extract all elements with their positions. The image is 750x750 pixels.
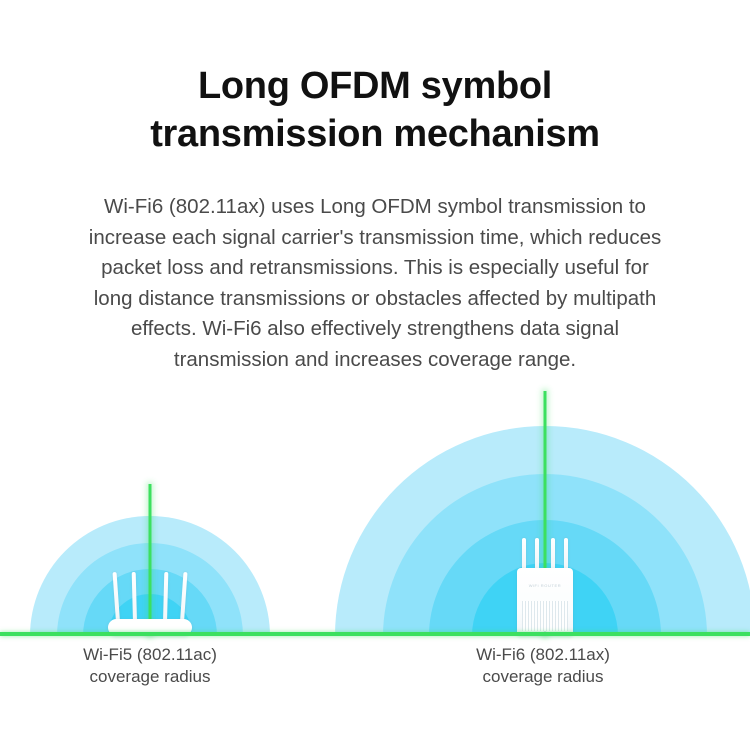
body-line-6: transmission and increases coverage rang… — [28, 345, 722, 376]
router-vent-grille — [522, 601, 568, 631]
body-line-5: effects. Wi-Fi6 also effectively strengt… — [28, 314, 722, 345]
wifi5-router-device — [102, 570, 198, 636]
body-line-1: Wi-Fi6 (802.11ax) uses Long OFDM symbol … — [28, 192, 722, 223]
body-paragraph: Wi-Fi6 (802.11ax) uses Long OFDM symbol … — [28, 192, 722, 375]
infographic-page: Long OFDM symbol transmission mechanism … — [0, 0, 750, 750]
body-line-2: increase each signal carrier's transmiss… — [28, 223, 722, 254]
wifi6-caption-line-2: coverage radius — [441, 666, 645, 688]
antenna-icon — [535, 538, 539, 570]
wifi5-caption: Wi-Fi5 (802.11ac) coverage radius — [50, 644, 250, 688]
antenna-icon — [564, 538, 568, 570]
router-body: WiFi ROUTER — [517, 568, 573, 636]
antenna-icon — [180, 572, 187, 622]
body-line-4: long distance transmissions or obstacles… — [28, 284, 722, 315]
wifi5-coverage-scene — [30, 476, 270, 636]
page-title: Long OFDM symbol transmission mechanism — [0, 62, 750, 158]
coverage-illustration: WiFi ROUTER — [0, 390, 750, 750]
title-line-2: transmission mechanism — [0, 110, 750, 158]
wifi6-coverage-scene: WiFi ROUTER — [330, 401, 750, 636]
antenna-icon — [132, 572, 137, 622]
antenna-icon — [163, 572, 168, 622]
wifi6-router-device: WiFi ROUTER — [509, 540, 581, 636]
wifi6-caption-line-1: Wi-Fi6 (802.11ax) — [441, 644, 645, 666]
body-line-3: packet loss and retransmissions. This is… — [28, 253, 722, 284]
antenna-icon — [551, 538, 555, 570]
wifi6-caption: Wi-Fi6 (802.11ax) coverage radius — [441, 644, 645, 688]
wifi5-caption-line-1: Wi-Fi5 (802.11ac) — [50, 644, 250, 666]
antenna-icon — [522, 538, 526, 570]
antenna-icon — [113, 572, 120, 622]
title-line-1: Long OFDM symbol — [0, 62, 750, 110]
ground-line — [0, 632, 750, 636]
router-brand-label: WiFi ROUTER — [517, 583, 573, 588]
wifi5-caption-line-2: coverage radius — [50, 666, 250, 688]
